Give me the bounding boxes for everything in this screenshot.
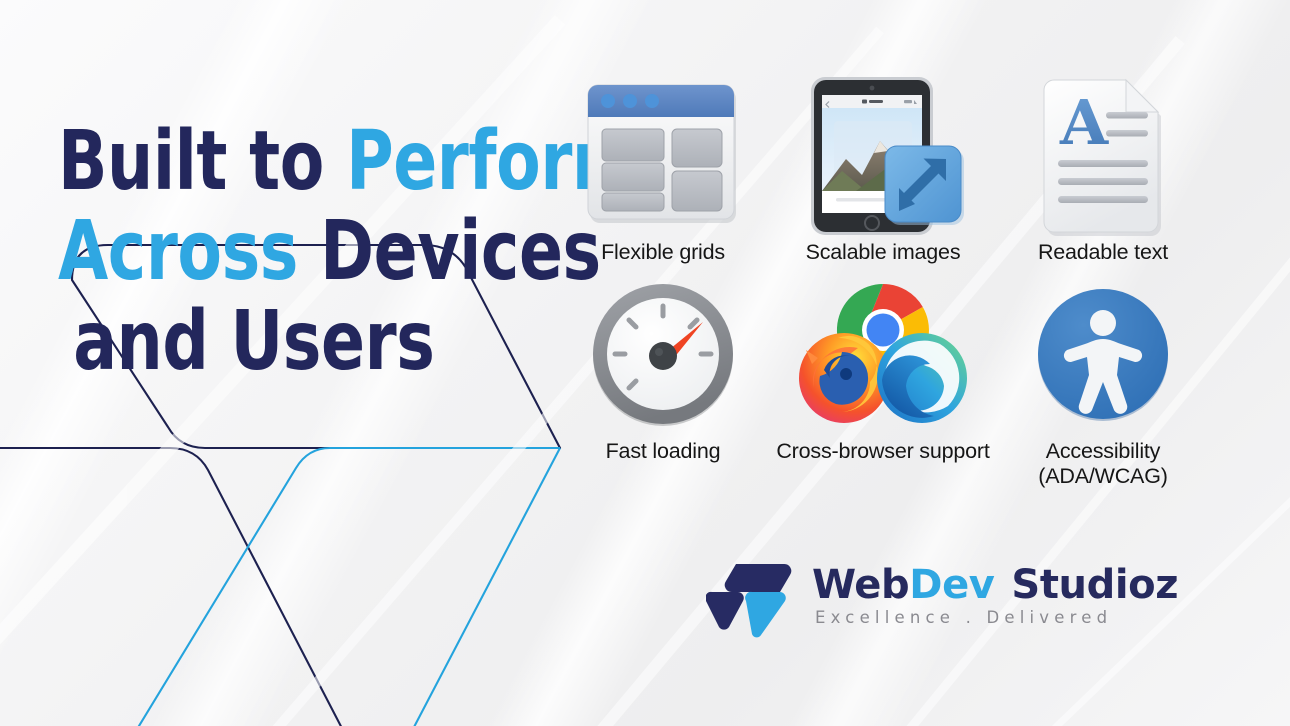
feature-label: Readable text: [1038, 240, 1168, 265]
feature-row-1: Flexible grids: [553, 66, 1213, 265]
svg-text:A: A: [1059, 86, 1109, 159]
feature-label-line-2: (ADA/WCAG): [1038, 464, 1167, 488]
feature-label: Scalable images: [806, 240, 961, 265]
headline-dark-1: Built to: [58, 114, 346, 209]
feature-grid: Flexible grids: [553, 66, 1213, 489]
feature-item-readable-text[interactable]: A Readable text: [993, 66, 1213, 265]
feature-item-flexible-grids[interactable]: Flexible grids: [553, 66, 773, 265]
document-letter-a-icon: A: [1028, 66, 1178, 246]
browsers-chrome-firefox-edge-icon: [788, 265, 978, 443]
logo-word-web: Web: [812, 562, 909, 608]
logo-text-block: WebDev Studioz Excellence . Delivered: [812, 558, 1178, 628]
headline-line-1: Built to Perform: [58, 117, 472, 207]
gauge-speedometer-icon: [587, 265, 739, 443]
feature-item-scalable-images[interactable]: Scalable images: [773, 66, 993, 265]
headline-line-3: and Users: [58, 297, 450, 387]
tablet-photo-resize-icon: [796, 66, 971, 246]
logo-word-dev: Dev: [909, 562, 994, 608]
feature-item-cross-browser-support[interactable]: Cross-browser support: [773, 265, 993, 489]
logo-tagline: Excellence . Delivered: [812, 608, 1178, 628]
logo-word-studioz: Studioz: [1011, 562, 1178, 608]
feature-row-2: Fast loading: [553, 265, 1213, 489]
feature-item-fast-loading[interactable]: Fast loading: [553, 265, 773, 489]
feature-item-accessibility[interactable]: Accessibility (ADA/WCAG): [993, 265, 1213, 489]
headline-line-2: Across Devices: [58, 207, 472, 297]
accessibility-person-icon: [1032, 265, 1174, 443]
feature-label: Fast loading: [606, 439, 721, 464]
feature-label: Accessibility (ADA/WCAG): [1038, 439, 1167, 489]
feature-label: Flexible grids: [601, 240, 725, 265]
feature-label: Cross-browser support: [776, 439, 989, 464]
browser-window-grid-icon: [578, 66, 748, 246]
webdevstudioz-w-mark-icon: [706, 558, 798, 640]
brand-logo[interactable]: WebDev Studioz Excellence . Delivered: [706, 558, 1178, 640]
feature-label-line-1: Accessibility: [1046, 439, 1161, 463]
logo-wordmark: WebDev Studioz: [812, 564, 1178, 606]
page-headline: Built to Perform Across Devices and User…: [58, 117, 472, 387]
headline-accent-2: Across: [58, 204, 320, 299]
